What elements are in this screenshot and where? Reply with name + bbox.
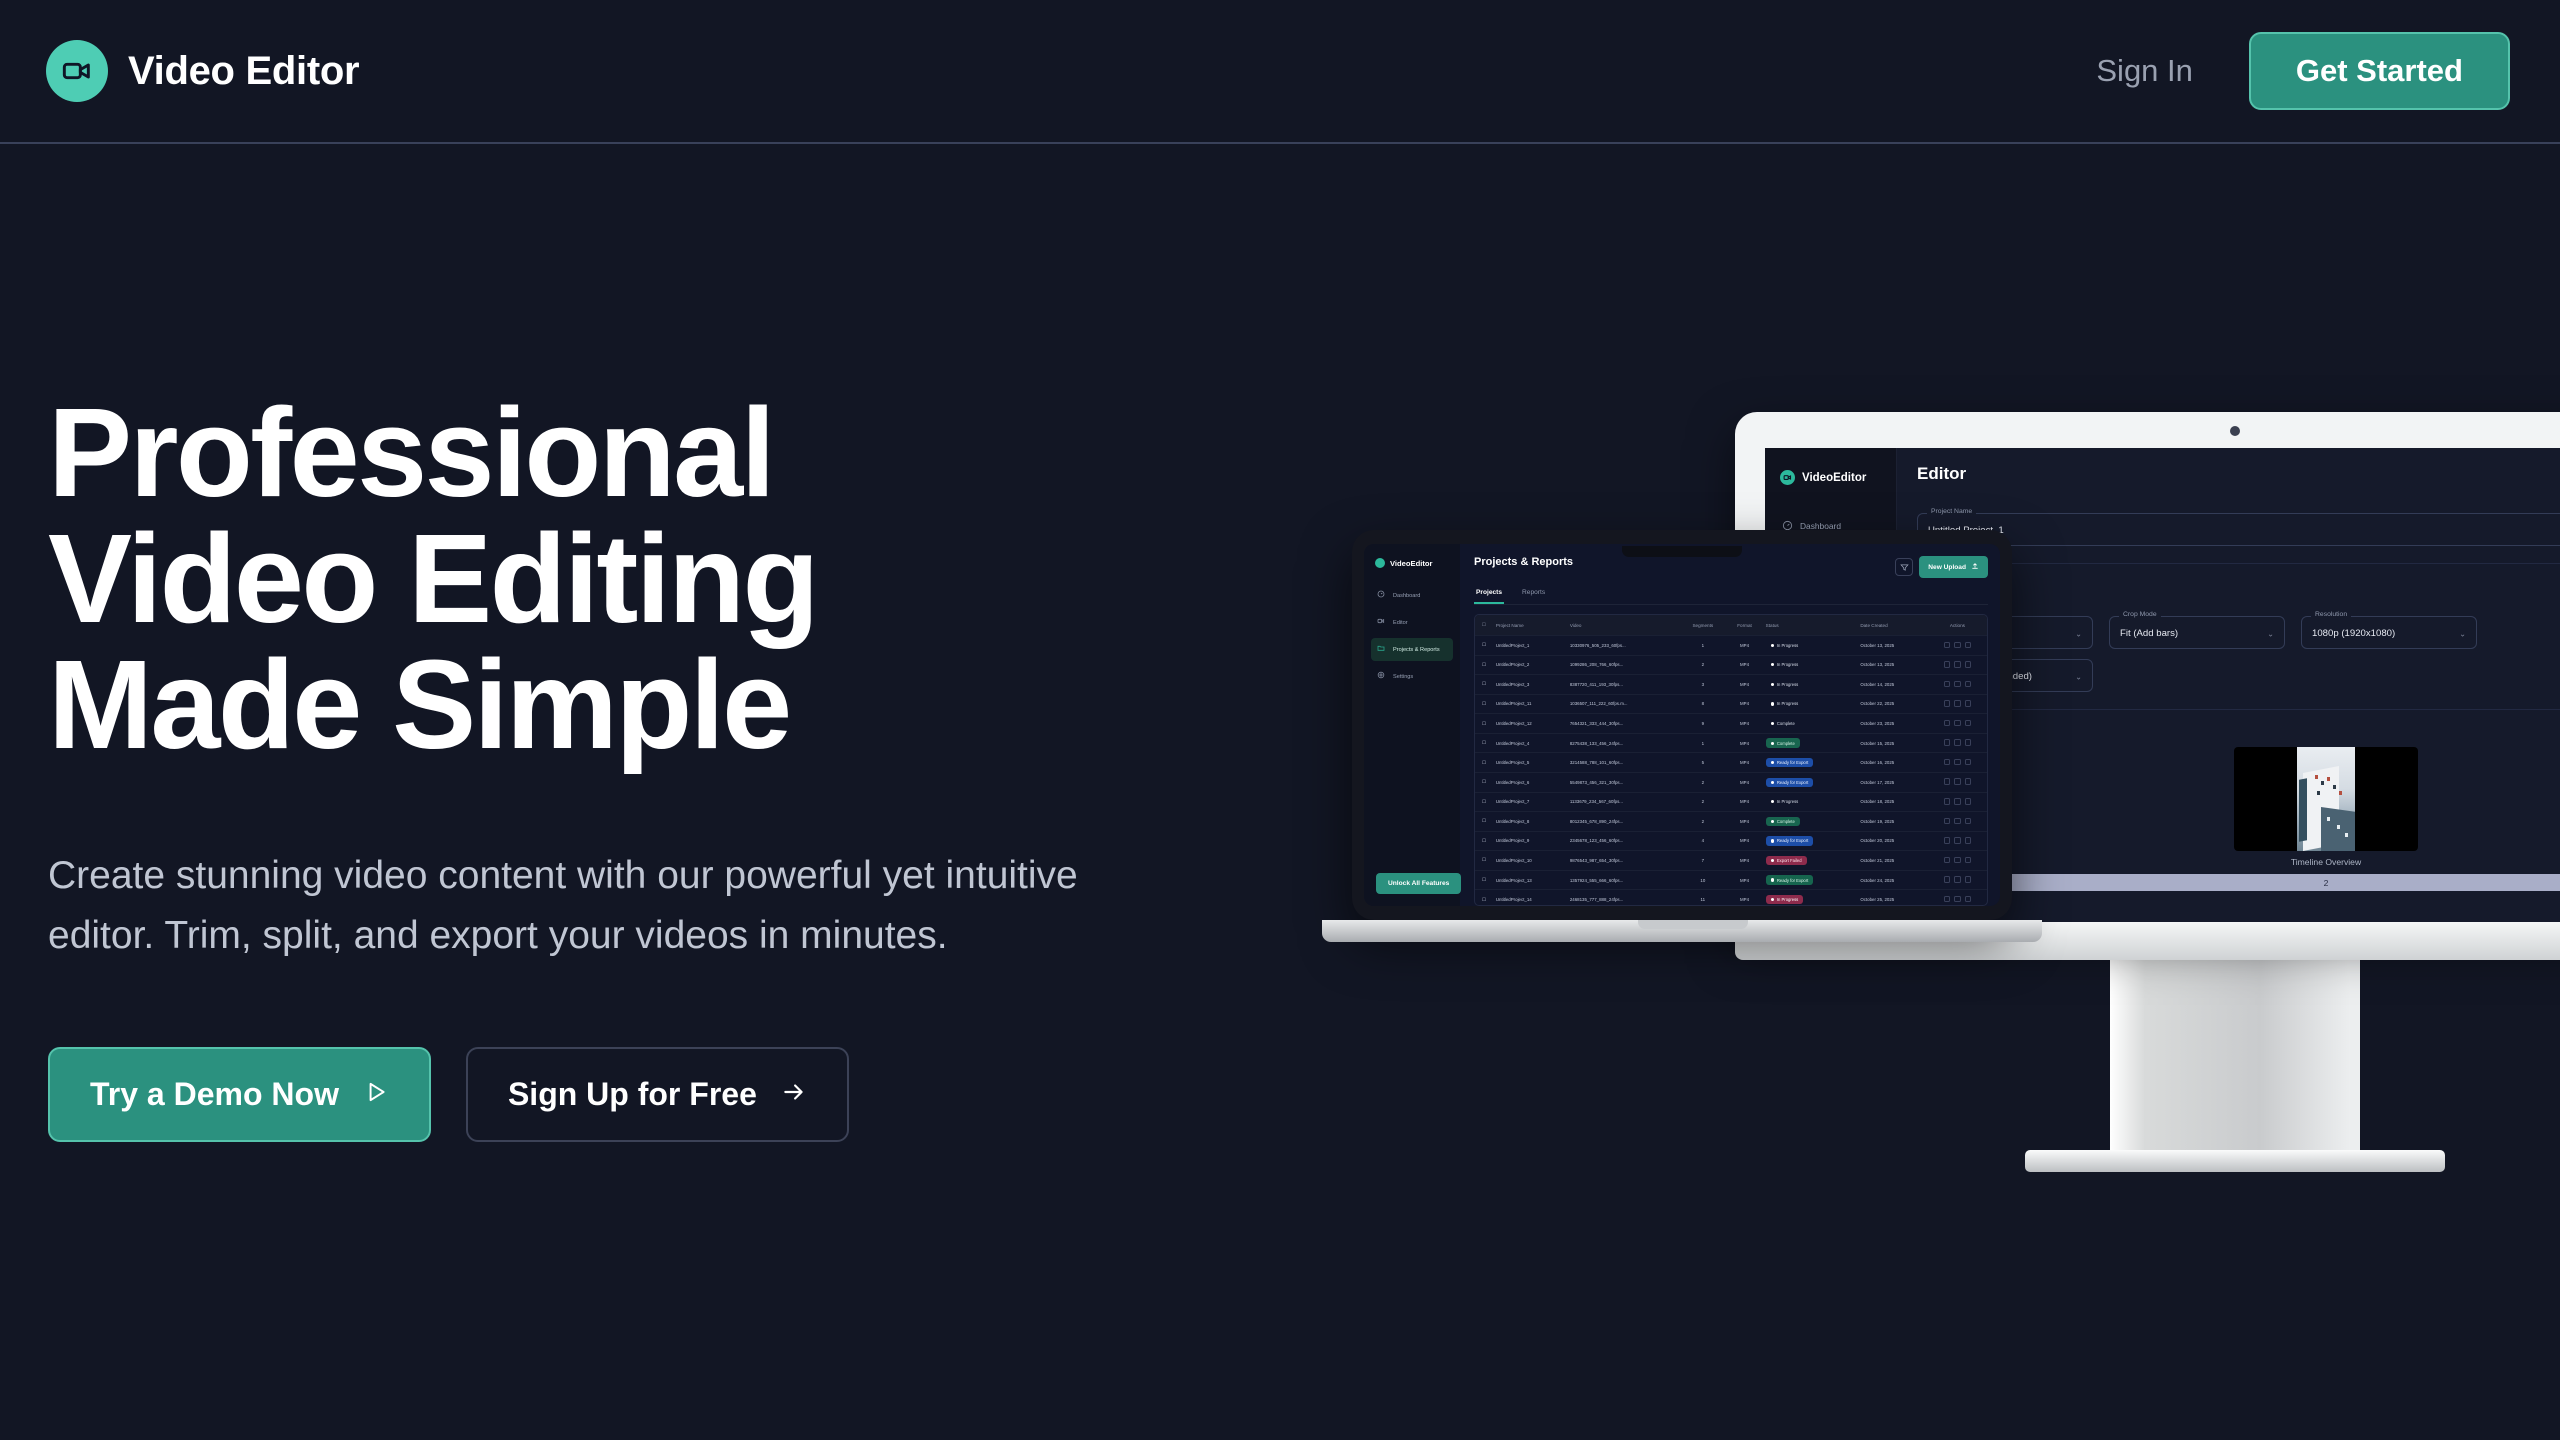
projects-sidebar-brand-label: VideoEditor: [1390, 559, 1432, 568]
cell-segments: 4: [1679, 831, 1726, 851]
editor-sidebar-brand-label: VideoEditor: [1802, 472, 1866, 484]
brand-logo[interactable]: Video Editor: [46, 40, 359, 102]
download-icon[interactable]: [1954, 661, 1961, 668]
status-label: Export Failed: [1777, 858, 1802, 863]
cell-format: MP4: [1726, 714, 1762, 734]
cell-segments: 7: [1679, 851, 1726, 871]
row-checkbox[interactable]: ☐: [1475, 714, 1493, 734]
cell-actions: [1928, 831, 1987, 851]
format-settings-row-2: Export Speed Quality (Recommended) ⌄: [1917, 649, 2560, 692]
delete-icon[interactable]: [1965, 837, 1972, 844]
project-name-label: Project Name: [1927, 508, 1976, 515]
status-dot-icon: [1771, 859, 1774, 862]
table-row[interactable]: ☐UntitledProject_21099286_208_766_60fps.…: [1475, 655, 1987, 675]
projects-main: Projects & Reports New Upload: [1460, 544, 2000, 906]
column-format[interactable]: Format: [1726, 615, 1762, 636]
row-checkbox[interactable]: ☐: [1475, 812, 1493, 832]
cell-video: 1357924_555_666_60fps...: [1567, 870, 1679, 890]
download-icon[interactable]: [1954, 759, 1961, 766]
hero-title-line-1: Professional: [48, 390, 1168, 516]
delete-icon[interactable]: [1965, 759, 1972, 766]
cell-project-name: UntitledProject_2: [1493, 655, 1567, 675]
brand-name: Video Editor: [128, 49, 359, 94]
cell-status: Ready for Export: [1763, 753, 1858, 773]
edit-icon[interactable]: [1944, 681, 1951, 688]
building-window: [2333, 785, 2336, 789]
header-nav: Sign In Get Started: [2096, 32, 2510, 110]
editor-header: Editor Save Exp: [1917, 464, 2560, 495]
status-badge: Ready for Export: [1766, 758, 1814, 767]
building-window: [2327, 777, 2330, 781]
cell-video: 8275438_133_456_24fps...: [1567, 733, 1679, 753]
projects-sidebar: VideoEditor Dashboard Editor: [1364, 544, 1460, 906]
status-label: In Progress: [1777, 897, 1798, 902]
download-icon[interactable]: [1954, 857, 1961, 864]
column-status[interactable]: Status: [1763, 615, 1858, 636]
status-dot-icon: [1771, 644, 1774, 647]
building-dark-strip: [2299, 778, 2307, 842]
cell-status: In Progress: [1763, 675, 1858, 695]
download-icon[interactable]: [1954, 720, 1961, 727]
building-window: [2317, 791, 2320, 795]
monitor-stand-neck: [2110, 932, 2360, 1154]
status-dot-icon: [1771, 820, 1774, 823]
try-demo-label: Try a Demo Now: [90, 1076, 339, 1113]
cell-video: 7654321_333_444_30fps...: [1567, 714, 1679, 734]
cell-project-name: UntitledProject_1: [1493, 636, 1567, 656]
cell-date-created: October 18, 2025: [1857, 792, 1928, 812]
laptop-lid: VideoEditor Dashboard Editor: [1352, 530, 2012, 920]
cell-date-created: October 13, 2025: [1857, 636, 1928, 656]
status-label: Ready for Export: [1777, 760, 1808, 765]
status-badge: Ready for Export: [1766, 875, 1814, 884]
delete-icon[interactable]: [1965, 876, 1972, 883]
laptop-mockup: VideoEditor Dashboard Editor: [1352, 530, 2012, 975]
row-checkbox[interactable]: ☐: [1475, 870, 1493, 890]
video-icon: [1375, 558, 1385, 568]
sidebar-item-dashboard[interactable]: Dashboard: [1371, 584, 1453, 607]
cell-actions: [1928, 772, 1987, 792]
laptop-screen: VideoEditor Dashboard Editor: [1364, 544, 2000, 906]
table-row[interactable]: ☐UntitledProject_38387720_411_193_30fps.…: [1475, 675, 1987, 695]
cell-project-name: UntitledProject_13: [1493, 870, 1567, 890]
status-dot-icon: [1771, 898, 1774, 901]
status-label: Complete: [1777, 819, 1795, 824]
cell-date-created: October 17, 2025: [1857, 772, 1928, 792]
upload-icon: [1971, 562, 1979, 572]
cell-actions: [1928, 675, 1987, 695]
sidebar-item-editor[interactable]: Editor: [1371, 611, 1453, 634]
cell-actions: [1928, 812, 1987, 832]
laptop-notch: [1622, 546, 1742, 557]
status-dot-icon: [1771, 702, 1774, 705]
delete-icon[interactable]: [1965, 739, 1972, 746]
status-label: Ready for Export: [1777, 838, 1808, 843]
chevron-down-icon: ⌄: [2075, 629, 2082, 638]
new-upload-label: New Upload: [1928, 564, 1966, 571]
table-row[interactable]: ☐UntitledProject_53214588_788_101_60fps.…: [1475, 753, 1987, 773]
status-dot-icon: [1771, 742, 1774, 745]
table-row[interactable]: ☐UntitledProject_131357924_555_666_60fps…: [1475, 870, 1987, 890]
cell-project-name: UntitledProject_10: [1493, 851, 1567, 871]
projects-header: Projects & Reports New Upload: [1474, 556, 1988, 578]
cell-status: In Progress: [1763, 890, 1858, 906]
table-row[interactable]: ☐UntitledProject_92345678_123_456_60fps.…: [1475, 831, 1987, 851]
chevron-down-icon: ⌄: [2267, 629, 2274, 638]
table-row[interactable]: ☐UntitledProject_111036507_111_222_60fps…: [1475, 694, 1987, 714]
hero-section: Professional Video Editing Made Simple C…: [48, 390, 1168, 1142]
column-segments[interactable]: Segments: [1679, 615, 1726, 636]
try-demo-button[interactable]: Try a Demo Now: [48, 1047, 431, 1142]
chevron-down-icon: ⌄: [2075, 672, 2082, 681]
sign-up-free-button[interactable]: Sign Up for Free: [466, 1047, 849, 1142]
hero-title-line-2: Video Editing: [48, 516, 1168, 642]
cell-date-created: October 14, 2025: [1857, 675, 1928, 695]
edit-icon[interactable]: [1944, 661, 1951, 668]
row-checkbox[interactable]: ☐: [1475, 792, 1493, 812]
status-dot-icon: [1771, 800, 1774, 803]
edit-icon[interactable]: [1944, 720, 1951, 727]
project-name-value: Untitled Project_1: [1928, 525, 2560, 536]
cell-date-created: October 21, 2025: [1857, 851, 1928, 871]
table-row[interactable]: ☐UntitledProject_88012345_678_890_24fps.…: [1475, 812, 1987, 832]
cell-project-name: UntitledProject_8: [1493, 812, 1567, 832]
monitor-stand-base: [2025, 1150, 2445, 1172]
edit-icon[interactable]: [1944, 896, 1951, 903]
delete-icon[interactable]: [1965, 700, 1972, 707]
crop-mode-select[interactable]: Crop Mode Fit (Add bars) ⌄: [2109, 616, 2285, 649]
editor-sidebar-brand: VideoEditor: [1780, 470, 1887, 485]
timeline-overview-caption: Timeline Overview: [1917, 857, 2560, 867]
delete-icon[interactable]: [1965, 896, 1972, 903]
download-icon[interactable]: [1954, 837, 1961, 844]
status-label: In Progress: [1777, 643, 1798, 648]
video-icon: [1780, 470, 1795, 485]
cell-segments: 3: [1679, 675, 1726, 695]
download-icon[interactable]: [1954, 778, 1961, 785]
column-actions: Actions: [1928, 615, 1987, 636]
download-icon[interactable]: [1954, 642, 1961, 649]
cell-status: Complete: [1763, 733, 1858, 753]
building-window: [2315, 775, 2318, 779]
projects-page-title: Projects & Reports: [1474, 556, 1573, 568]
cell-format: MP4: [1726, 655, 1762, 675]
building-window: [2345, 833, 2348, 837]
row-checkbox[interactable]: ☐: [1475, 851, 1493, 871]
cell-date-created: October 13, 2025: [1857, 655, 1928, 675]
delete-icon[interactable]: [1965, 857, 1972, 864]
edit-icon[interactable]: [1944, 857, 1951, 864]
cell-project-name: UntitledProject_12: [1493, 714, 1567, 734]
row-checkbox[interactable]: ☐: [1475, 694, 1493, 714]
edit-icon[interactable]: [1944, 837, 1951, 844]
status-label: In Progress: [1777, 682, 1798, 687]
edit-icon[interactable]: [1944, 642, 1951, 649]
status-badge: Export Failed: [1766, 856, 1807, 865]
tab-projects[interactable]: Projects: [1474, 589, 1504, 604]
row-checkbox[interactable]: ☐: [1475, 675, 1493, 695]
delete-icon[interactable]: [1965, 798, 1972, 805]
row-checkbox[interactable]: ☐: [1475, 831, 1493, 851]
status-badge: Ready for Export: [1766, 836, 1814, 845]
cell-format: MP4: [1726, 851, 1762, 871]
resolution-value: 1080p (1920x1080): [2312, 628, 2466, 639]
table-header-row: ☐ Project Name Video Segments Format Sta…: [1475, 615, 1987, 636]
cell-status: In Progress: [1763, 694, 1858, 714]
download-icon[interactable]: [1954, 798, 1961, 805]
sidebar-item-projects[interactable]: Projects & Reports: [1371, 638, 1453, 661]
table-header: ☐ Project Name Video Segments Format Sta…: [1475, 615, 1987, 636]
unlock-all-features-button[interactable]: Unlock All Features: [1376, 873, 1461, 894]
cell-status: In Progress: [1763, 655, 1858, 675]
cell-project-name: UntitledProject_9: [1493, 831, 1567, 851]
delete-icon[interactable]: [1965, 818, 1972, 825]
laptop-lip: [1638, 920, 1748, 929]
cell-actions: [1928, 636, 1987, 656]
table-row[interactable]: ☐UntitledProject_65549873_456_321_30fps.…: [1475, 772, 1987, 792]
status-label: In Progress: [1777, 701, 1798, 706]
video-camera-icon: [46, 40, 108, 102]
format-settings-row-1: Aspect Ratio 16:9 (Horizontal) ⌄ Crop Mo…: [1917, 606, 2560, 649]
page-title: Professional Video Editing Made Simple: [48, 390, 1168, 768]
cell-project-name: UntitledProject_11: [1493, 694, 1567, 714]
sidebar-item-editor-label: Editor: [1393, 620, 1408, 626]
table-row[interactable]: ☐UntitledProject_127654321_333_444_30fps…: [1475, 714, 1987, 734]
status-badge: Complete: [1766, 817, 1800, 826]
timeline-bar[interactable]: 2: [1917, 874, 2560, 891]
row-checkbox[interactable]: ☐: [1475, 890, 1493, 906]
edit-icon[interactable]: [1944, 798, 1951, 805]
cell-video: 1133679_234_567_60fps...: [1567, 792, 1679, 812]
table-body: ☐UntitledProject_110330976_505_233_60fps…: [1475, 636, 1987, 907]
status-label: Ready for Export: [1777, 878, 1808, 883]
column-project-name[interactable]: Project Name: [1493, 615, 1567, 636]
cell-video: 9876543_987_654_30fps...: [1567, 851, 1679, 871]
building-window: [2327, 817, 2330, 821]
hero-title-line-3: Made Simple: [48, 642, 1168, 768]
hero-cta-row: Try a Demo Now Sign Up for Free: [48, 1047, 1168, 1142]
edit-icon[interactable]: [1944, 700, 1951, 707]
cell-date-created: October 22, 2025: [1857, 694, 1928, 714]
status-label: In Progress: [1777, 662, 1798, 667]
cell-date-created: October 20, 2025: [1857, 831, 1928, 851]
video-preview-header: Video Preview Video player size: [1917, 723, 2560, 735]
arrow-right-icon: [781, 1076, 807, 1113]
cell-date-created: October 15, 2025: [1857, 733, 1928, 753]
edit-icon[interactable]: [1944, 778, 1951, 785]
status-dot-icon: [1771, 781, 1774, 784]
cell-project-name: UntitledProject_6: [1493, 772, 1567, 792]
row-checkbox[interactable]: ☐: [1475, 636, 1493, 656]
download-icon[interactable]: [1954, 681, 1961, 688]
play-icon: [363, 1076, 389, 1113]
editor-divider: [1917, 563, 2560, 564]
cell-actions: [1928, 792, 1987, 812]
sidebar-item-projects-label: Projects & Reports: [1393, 647, 1440, 653]
cell-actions: [1928, 655, 1987, 675]
cell-status: Complete: [1763, 812, 1858, 832]
preview-divider: [1917, 709, 2560, 710]
cell-format: MP4: [1726, 694, 1762, 714]
cell-format: MP4: [1726, 675, 1762, 695]
status-badge: In Progress: [1766, 660, 1804, 669]
cell-project-name: UntitledProject_14: [1493, 890, 1567, 906]
video-frame-image: [2297, 747, 2355, 851]
cell-date-created: October 25, 2025: [1857, 890, 1928, 906]
cell-actions: [1928, 851, 1987, 871]
cell-video: 10330976_505_233_60fps...: [1567, 636, 1679, 656]
project-name-field[interactable]: Project Name Untitled Project_1: [1917, 513, 2560, 546]
crop-mode-value: Fit (Add bars): [2120, 628, 2274, 639]
cell-video: 1099286_208_766_60fps...: [1567, 655, 1679, 675]
edit-icon[interactable]: [1944, 876, 1951, 883]
delete-icon[interactable]: [1965, 720, 1972, 727]
delete-icon[interactable]: [1965, 681, 1972, 688]
status-badge: Complete: [1766, 738, 1800, 747]
cell-format: MP4: [1726, 831, 1762, 851]
status-dot-icon: [1771, 761, 1774, 764]
cell-actions: [1928, 753, 1987, 773]
sidebar-item-settings-label: Settings: [1393, 674, 1413, 680]
status-label: Complete: [1777, 721, 1795, 726]
cell-project-name: UntitledProject_4: [1493, 733, 1567, 753]
site-header: Video Editor Sign In Get Started: [0, 0, 2560, 144]
cell-status: Export Failed: [1763, 851, 1858, 871]
column-date-created[interactable]: Date Created: [1857, 615, 1928, 636]
cell-format: MP4: [1726, 772, 1762, 792]
cell-status: Complete: [1763, 714, 1858, 734]
status-badge: In Progress: [1766, 641, 1804, 650]
download-icon[interactable]: [1954, 876, 1961, 883]
status-badge: In Progress: [1766, 895, 1804, 904]
status-label: Ready for Export: [1777, 780, 1808, 785]
column-video[interactable]: Video: [1567, 615, 1679, 636]
cell-project-name: UntitledProject_5: [1493, 753, 1567, 773]
status-badge: In Progress: [1766, 797, 1804, 806]
resolution-label: Resolution: [2311, 611, 2351, 618]
sidebar-item-dashboard-label: Dashboard: [1393, 593, 1420, 599]
status-dot-icon: [1771, 683, 1774, 686]
format-settings-title: Format Settings: [1917, 584, 2560, 596]
table-row[interactable]: ☐UntitledProject_110330976_505_233_60fps…: [1475, 636, 1987, 656]
monitor-webcam-icon: [2230, 426, 2240, 436]
download-icon[interactable]: [1954, 818, 1961, 825]
status-dot-icon: [1771, 878, 1774, 881]
cell-actions: [1928, 714, 1987, 734]
row-checkbox[interactable]: ☐: [1475, 772, 1493, 792]
folder-icon: [1377, 644, 1388, 655]
status-label: In Progress: [1777, 799, 1798, 804]
new-upload-button[interactable]: New Upload: [1919, 556, 1988, 578]
column-select-all[interactable]: ☐: [1475, 615, 1493, 636]
cell-actions: [1928, 694, 1987, 714]
projects-table: ☐ Project Name Video Segments Format Sta…: [1475, 615, 1987, 906]
hero-subtitle: Create stunning video content with our p…: [48, 846, 1118, 967]
status-badge: Complete: [1766, 719, 1800, 728]
sign-in-button[interactable]: Sign In: [2096, 53, 2193, 89]
cell-date-created: October 23, 2025: [1857, 714, 1928, 734]
cell-project-name: UntitledProject_3: [1493, 675, 1567, 695]
cell-format: MP4: [1726, 870, 1762, 890]
cell-project-name: UntitledProject_7: [1493, 792, 1567, 812]
cell-actions: [1928, 870, 1987, 890]
projects-sidebar-brand: VideoEditor: [1375, 558, 1453, 568]
cell-video: 2345678_123_456_60fps...: [1567, 831, 1679, 851]
projects-app: VideoEditor Dashboard Editor: [1364, 544, 2000, 906]
tab-reports[interactable]: Reports: [1520, 589, 1547, 604]
delete-icon[interactable]: [1965, 778, 1972, 785]
gauge-icon: [1377, 590, 1388, 601]
video-preview-player[interactable]: [2234, 747, 2418, 851]
projects-table-wrapper: ☐ Project Name Video Segments Format Sta…: [1474, 614, 1988, 906]
download-icon[interactable]: [1954, 739, 1961, 746]
cell-video: 1036507_111_222_60fps.m...: [1567, 694, 1679, 714]
get-started-button[interactable]: Get Started: [2249, 32, 2510, 110]
cell-format: MP4: [1726, 753, 1762, 773]
download-icon[interactable]: [1954, 700, 1961, 707]
status-badge: In Progress: [1766, 680, 1804, 689]
cell-status: Ready for Export: [1763, 870, 1858, 890]
crop-mode-label: Crop Mode: [2119, 611, 2161, 618]
table-row[interactable]: ☐UntitledProject_48275438_133_456_24fps.…: [1475, 733, 1987, 753]
cell-status: In Progress: [1763, 636, 1858, 656]
chevron-down-icon: ⌄: [2459, 629, 2466, 638]
filter-icon[interactable]: [1895, 558, 1913, 576]
row-checkbox[interactable]: ☐: [1475, 753, 1493, 773]
cell-format: MP4: [1726, 636, 1762, 656]
cell-segments: 5: [1679, 753, 1726, 773]
edit-icon[interactable]: [1944, 759, 1951, 766]
status-dot-icon: [1771, 663, 1774, 666]
projects-tabs: Projects Reports: [1474, 589, 1988, 605]
editor-page-title: Editor: [1917, 464, 1966, 484]
row-checkbox[interactable]: ☐: [1475, 655, 1493, 675]
download-icon[interactable]: [1954, 896, 1961, 903]
status-dot-icon: [1771, 839, 1774, 842]
delete-icon[interactable]: [1965, 642, 1972, 649]
cell-status: In Progress: [1763, 792, 1858, 812]
sidebar-item-settings[interactable]: Settings: [1371, 665, 1453, 688]
edit-icon[interactable]: [1944, 739, 1951, 746]
cell-segments: 2: [1679, 792, 1726, 812]
sidebar-item-dashboard-label: Dashboard: [1800, 521, 1841, 531]
edit-icon[interactable]: [1944, 818, 1951, 825]
cell-format: MP4: [1726, 890, 1762, 906]
building-window: [2321, 781, 2324, 785]
resolution-select[interactable]: Resolution 1080p (1920x1080) ⌄: [2301, 616, 2477, 649]
video-icon: [1377, 617, 1388, 628]
cell-segments: 1: [1679, 733, 1726, 753]
cell-date-created: October 16, 2025: [1857, 753, 1928, 773]
row-checkbox[interactable]: ☐: [1475, 733, 1493, 753]
building-window: [2339, 791, 2342, 795]
cell-segments: 8: [1679, 694, 1726, 714]
table-row[interactable]: ☐UntitledProject_109876543_987_654_30fps…: [1475, 851, 1987, 871]
status-badge: Ready for Export: [1766, 778, 1814, 787]
cell-status: Ready for Export: [1763, 772, 1858, 792]
cell-segments: 1: [1679, 636, 1726, 656]
delete-icon[interactable]: [1965, 661, 1972, 668]
cell-actions: [1928, 733, 1987, 753]
cell-segments: 2: [1679, 772, 1726, 792]
table-row[interactable]: ☐UntitledProject_142468135_777_888_24fps…: [1475, 890, 1987, 906]
cell-video: 3214588_788_101_60fps...: [1567, 753, 1679, 773]
projects-header-actions: New Upload: [1895, 556, 1988, 578]
status-label: Complete: [1777, 741, 1795, 746]
gear-icon: [1377, 671, 1388, 682]
table-row[interactable]: ☐UntitledProject_71133679_234_567_60fps.…: [1475, 792, 1987, 812]
building-window: [2337, 825, 2340, 829]
